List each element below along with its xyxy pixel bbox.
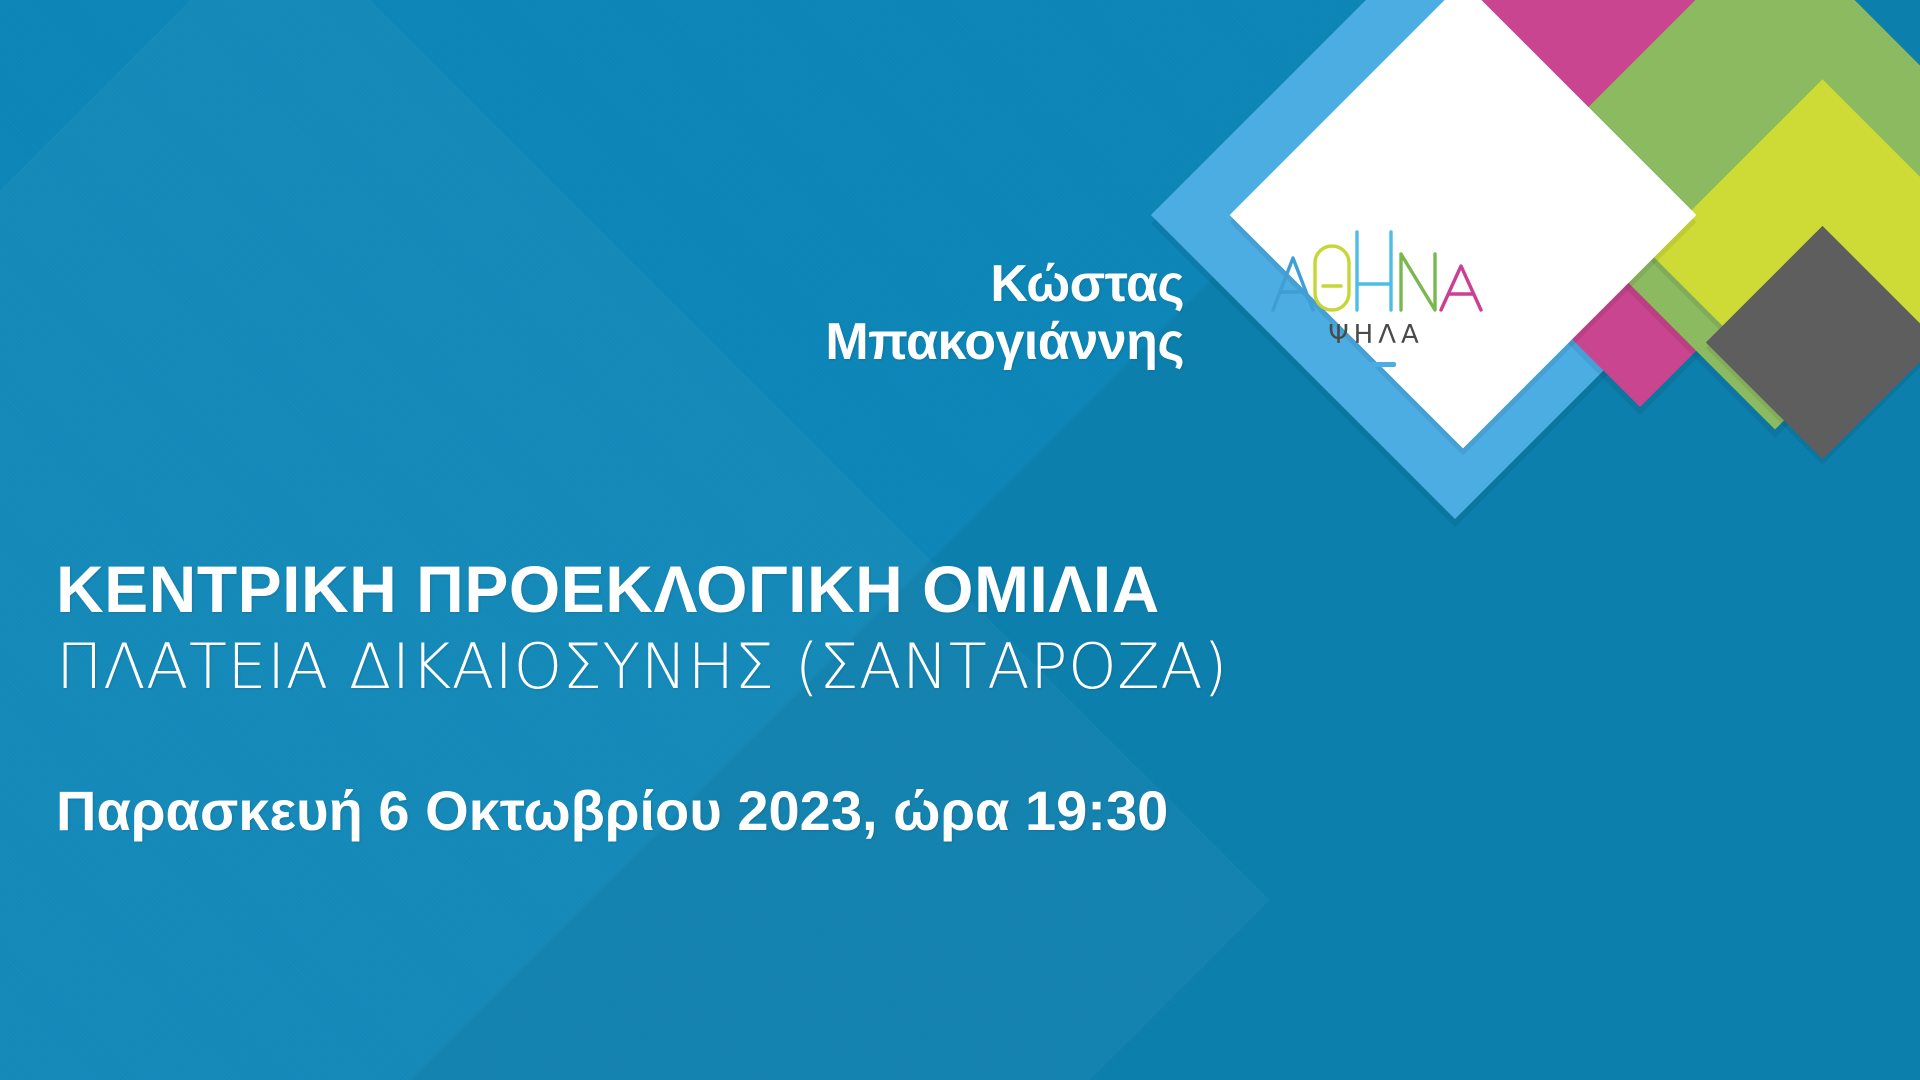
speaker-last-name: Μπακογιάννης [544, 313, 1184, 371]
speaker-name: Κώστας Μπακογιάννης [544, 255, 1184, 371]
logo-subtitle: ΨΗΛΑ [1328, 320, 1424, 350]
event-datetime: Παρασκευή 6 Οκτωβρίου 2023, ώρα 19:30 [56, 778, 1168, 843]
diamond-blue [1151, 0, 1759, 519]
diamond-green [1520, 0, 1920, 430]
background-shading [0, 0, 1920, 1080]
athina-psila-logo: ΨΗΛΑ [1256, 205, 1496, 385]
diamond-magenta [1343, 0, 1920, 407]
speaker-first-name: Κώστας [544, 255, 1184, 313]
logo-wordmark-athina [1269, 224, 1484, 316]
event-poster: ΨΗΛΑ Κώστας Μπακογιάννης ΚΕΝΤΡΙΚΗ ΠΡΟΕΚΛ… [0, 0, 1920, 1080]
diamond-gray [1706, 226, 1920, 459]
event-location: ΠΛΑΤΕΙΑ ΔΙΚΑΙΟΣΥΝΗΣ (ΣΑΝΤΑΡΟΖΑ) [56, 632, 1756, 701]
logo-underline-rule [1356, 362, 1396, 367]
left-light-wedge [0, 0, 1270, 1080]
headline-block: ΚΕΝΤΡΙΚΗ ΠΡΟΕΚΛΟΓΙΚΗ ΟΜΙΛΙΑ ΠΛΑΤΕΙΑ ΔΙΚΑ… [56, 555, 1756, 701]
canvas-texture-overlay [0, 0, 1920, 1080]
event-title: ΚΕΝΤΡΙΚΗ ΠΡΟΕΚΛΟΓΙΚΗ ΟΜΙΛΙΑ [56, 555, 1756, 624]
diagonal-shade-band [0, 0, 1920, 1080]
diamond-white-logo-plate [1230, 0, 1697, 448]
diamond-lime [1649, 79, 1920, 425]
